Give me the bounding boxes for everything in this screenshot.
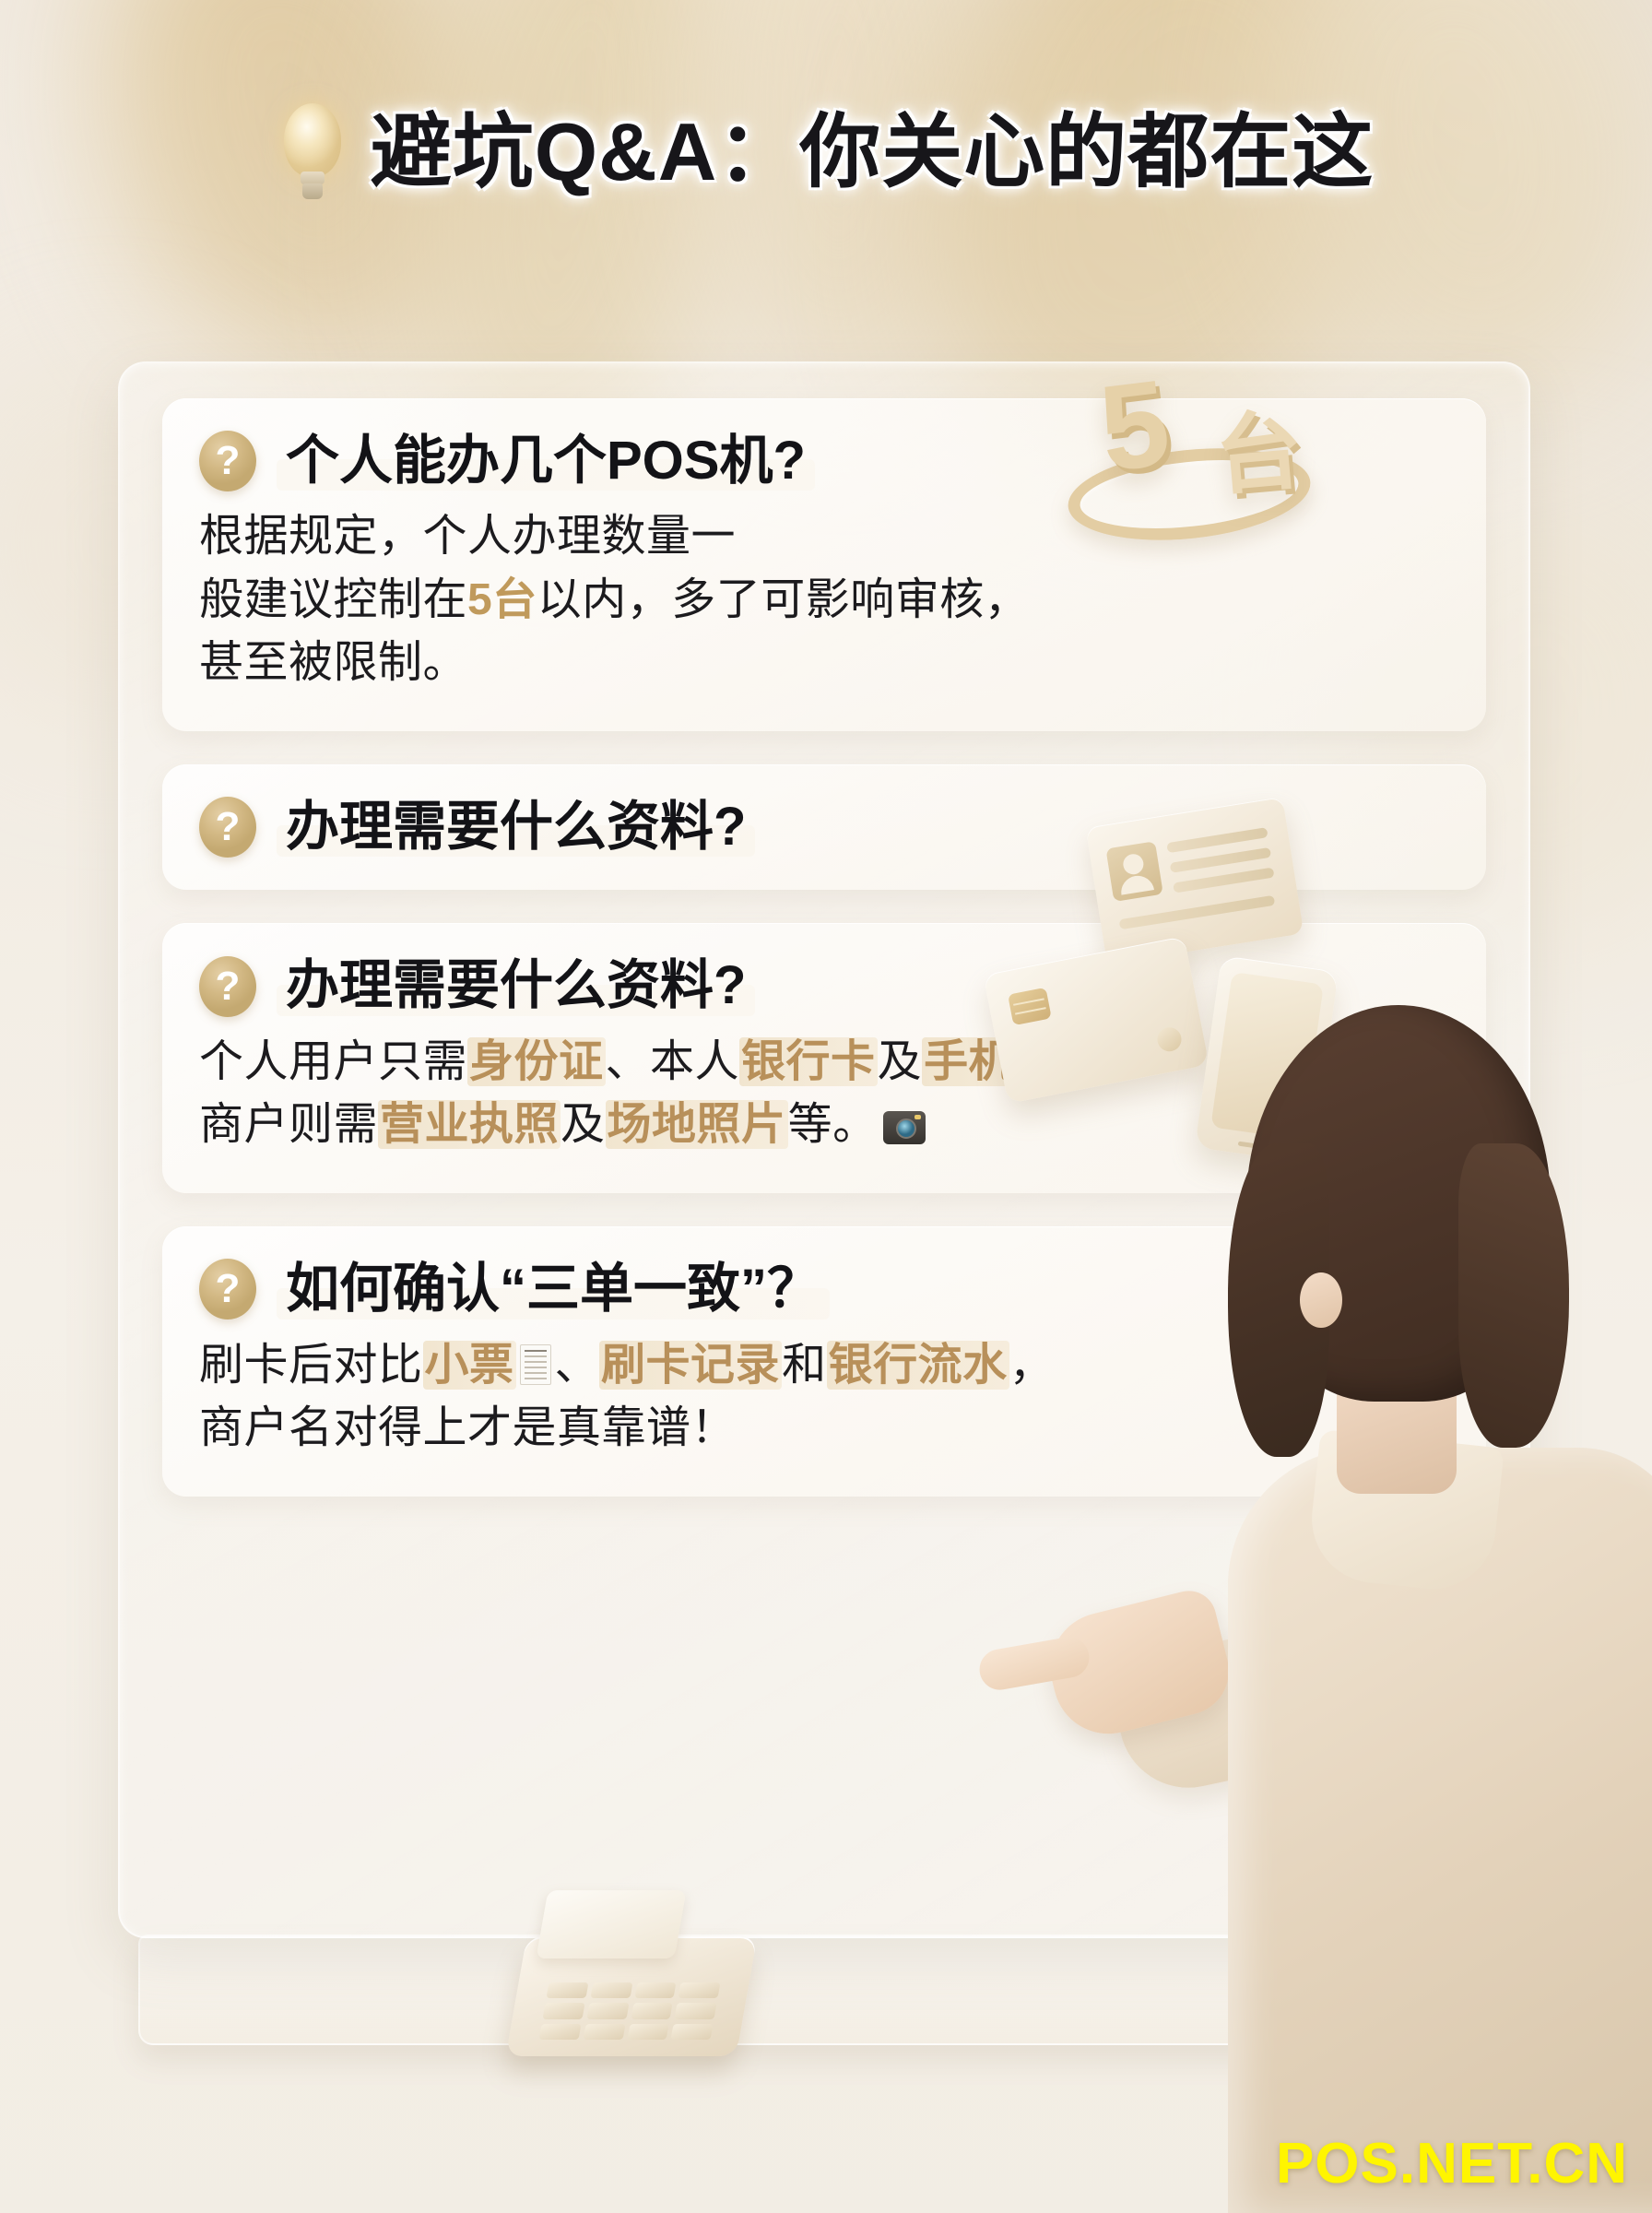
- question-badge-icon: ?: [199, 956, 256, 1017]
- question-label: 办理需要什么资料?: [286, 797, 746, 857]
- question-text: 如何确认“三单一致”？: [277, 1258, 830, 1320]
- camera-icon: [883, 1111, 926, 1144]
- character-hair-side: [1458, 1143, 1569, 1448]
- page-header: 避坑Q&A：你关心的都在这: [0, 103, 1652, 201]
- answer-line: 甚至被限制。: [199, 632, 1449, 694]
- lightbulb-icon: [278, 103, 347, 201]
- question-badge-icon: ?: [199, 1259, 256, 1320]
- character-3d-prop: [1117, 1005, 1652, 2213]
- page-title: 避坑Q&A：你关心的都在这: [371, 110, 1375, 195]
- five-units-prop: 5 台: [1051, 350, 1355, 581]
- question-text: 办理需要什么资料?: [277, 954, 755, 1017]
- answer-highlight: 银行流水: [827, 1341, 1009, 1390]
- answer-highlight: 5台: [467, 575, 537, 624]
- watermark: POS.NET.CN: [1276, 2131, 1628, 2196]
- question-text: 个人能办几个POS机?: [277, 430, 815, 492]
- question-label: 如何确认“三单一致”？: [286, 1259, 820, 1319]
- pos-terminal-keypad: [539, 1982, 721, 2040]
- question-label: 办理需要什么资料?: [286, 955, 746, 1015]
- question-badge-icon: ?: [199, 431, 256, 491]
- question-badge-icon: ?: [199, 797, 256, 858]
- poster-root: 避坑Q&A：你关心的都在这 5 台 ? 个人能办几个POS机? 根据规定，个人办…: [0, 0, 1652, 2213]
- answer-highlight: 银行卡: [739, 1037, 878, 1086]
- question-text: 办理需要什么资料?: [277, 796, 755, 858]
- question-label: 个人能办几个POS机?: [286, 431, 806, 491]
- answer-highlight: 身份证: [467, 1037, 606, 1086]
- character-ear: [1300, 1272, 1342, 1328]
- answer-highlight: 营业执照: [378, 1100, 560, 1149]
- receipt-icon: [520, 1344, 551, 1385]
- pos-terminal-prop: [516, 1881, 811, 2056]
- answer-highlight: 刷卡记录: [599, 1341, 782, 1390]
- answer-highlight: 场地照片: [606, 1100, 788, 1149]
- answer-highlight: 小票: [423, 1341, 516, 1390]
- pos-terminal-screen: [536, 1890, 686, 1959]
- five-units-unit: 台: [1209, 380, 1307, 513]
